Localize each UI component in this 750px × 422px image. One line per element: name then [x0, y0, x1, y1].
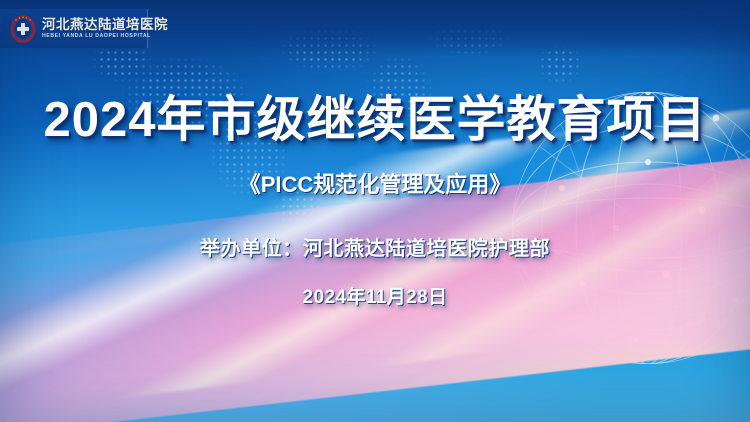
course-subtitle: 《PICC规范化管理及应用》 — [0, 174, 750, 196]
organizer-line: 举办单位：河北燕达陆道培医院护理部 — [0, 239, 750, 259]
banner-poster: 河北燕达陆道培医院 HEBEI YANDA LU DAOPEI HOSPITAL… — [0, 0, 750, 422]
page-title: 2024年市级继续医学教育项目 — [0, 96, 750, 145]
poster-content: 2024年市级继续医学教育项目 《PICC规范化管理及应用》 举办单位：河北燕达… — [0, 0, 750, 422]
event-date: 2024年11月28日 — [0, 288, 750, 307]
